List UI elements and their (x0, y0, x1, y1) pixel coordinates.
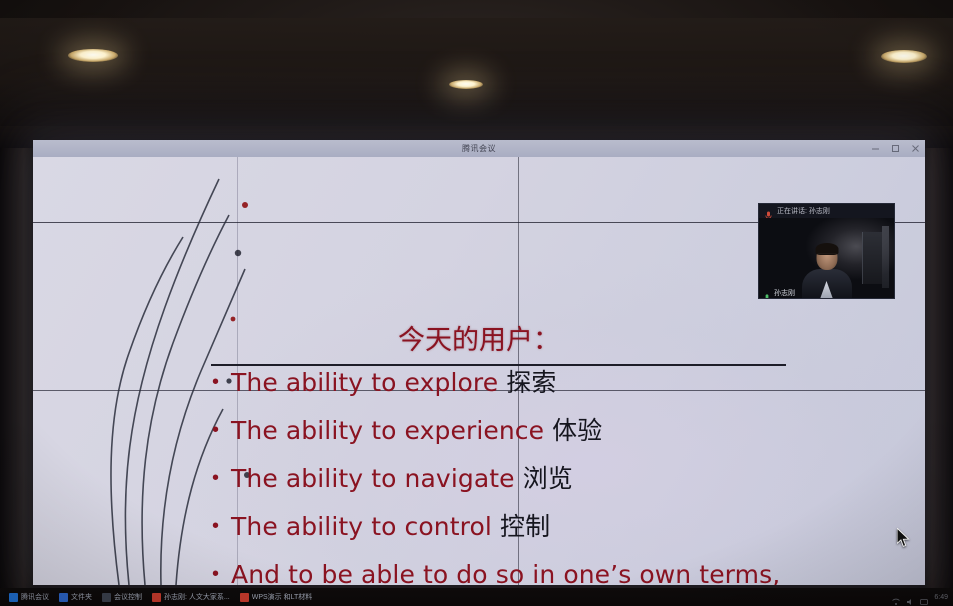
ceiling-light-center (449, 80, 483, 89)
video-header: 正在讲话: 孙志刚 (759, 204, 894, 218)
presentation-slide: 今天的用户： • The ability to explore 探索 • The… (33, 157, 925, 585)
taskbar-item-label: 会议控制 (114, 592, 142, 602)
network-icon[interactable] (892, 593, 900, 601)
minimize-icon[interactable] (870, 143, 881, 154)
meeting-control-icon (102, 593, 111, 602)
list-item: • The ability to experience 体验 (211, 415, 815, 446)
taskbar-item-wps[interactable]: WPS演示 和LT材料 (235, 588, 318, 606)
bullet-text-cn: 浏览 (523, 464, 573, 493)
bullet-text: And to be able to do so in one’s own ter… (231, 559, 815, 585)
wps-icon (240, 593, 249, 602)
video-header-label: 正在讲话: 孙志刚 (777, 206, 830, 216)
bullet-text-cn: 探索 (506, 368, 556, 397)
taskbar-item-document[interactable]: 孙志刚: 人文大家系... (147, 588, 235, 606)
bullet-text-en: The ability to control (231, 512, 500, 541)
taskbar-item-label: WPS演示 和LT材料 (252, 592, 313, 602)
video-feed: 孙志刚 (759, 218, 894, 299)
bullet-text-en: And to be able to do so in one’s own ter… (231, 560, 780, 585)
taskbar[interactable]: 腾讯会议 文件夹 会议控制 孙志刚: 人文大家系... WPS演示 和LT材料 (0, 588, 953, 606)
list-item: • The ability to navigate 浏览 (211, 463, 815, 494)
bullet-marker: • (211, 511, 220, 541)
mouse-pointer (897, 528, 911, 548)
conference-room-photo: 腾讯会议 (0, 0, 953, 606)
slide-bullet-list: • The ability to explore 探索 • The abilit… (211, 367, 815, 585)
window-titlebar[interactable]: 腾讯会议 (33, 140, 925, 157)
bullet-text-en: The ability to explore (231, 368, 506, 397)
window-controls (870, 140, 921, 157)
door (862, 232, 882, 284)
volume-icon[interactable] (906, 593, 914, 601)
bullet-text-cn: 控制 (500, 512, 550, 541)
window-title: 腾讯会议 (462, 143, 496, 154)
bullet-text: The ability to experience 体验 (231, 415, 602, 446)
bullet-text: The ability to navigate 浏览 (231, 463, 573, 494)
taskbar-item-label: 腾讯会议 (21, 592, 49, 602)
bullet-text: The ability to control 控制 (231, 511, 550, 542)
list-item: • The ability to control 控制 (211, 511, 815, 542)
microphone-icon (764, 289, 770, 297)
ceiling-light-left (68, 49, 118, 62)
bullet-marker: • (211, 463, 220, 493)
microphone-icon (765, 207, 772, 216)
taskbar-item-label: 文件夹 (71, 592, 92, 602)
wall-left (0, 148, 34, 588)
taskbar-item-folder[interactable]: 文件夹 (54, 588, 97, 606)
ime-icon[interactable] (920, 593, 928, 601)
projection-screen: 腾讯会议 (33, 140, 925, 585)
system-tray: 6:49 (892, 593, 953, 602)
video-footer: 孙志刚 (759, 287, 800, 299)
taskbar-items: 腾讯会议 文件夹 会议控制 孙志刚: 人文大家系... WPS演示 和LT材料 (0, 588, 317, 606)
taskbar-item-label: 孙志刚: 人文大家系... (164, 592, 230, 602)
bullet-text-cn: 体验 (552, 416, 602, 445)
wall-right (923, 148, 953, 588)
list-item: • And to be able to do so in one’s own t… (211, 559, 815, 585)
speaker-figure (800, 243, 854, 299)
tencent-meeting-icon (9, 593, 18, 602)
bullet-marker: • (211, 415, 220, 445)
glasses-icon (817, 253, 836, 257)
bullet-marker: • (211, 367, 220, 397)
bullet-text: The ability to explore 探索 (231, 367, 556, 398)
taskbar-clock[interactable]: 6:49 (934, 593, 948, 602)
ceiling-panel (0, 18, 953, 130)
list-item: • The ability to explore 探索 (211, 367, 815, 398)
bullet-text-en: The ability to experience (231, 416, 552, 445)
ceiling-light-right (881, 50, 927, 63)
taskbar-item-tencent-meeting[interactable]: 腾讯会议 (4, 588, 54, 606)
slide-title-rule (211, 364, 786, 366)
close-icon[interactable] (910, 143, 921, 154)
speaker-video-panel[interactable]: 正在讲话: 孙志刚 (758, 203, 895, 299)
taskbar-item-meeting-control[interactable]: 会议控制 (97, 588, 147, 606)
maximize-icon[interactable] (890, 143, 901, 154)
bullet-text-en: The ability to navigate (231, 464, 523, 493)
bullet-marker: • (211, 559, 220, 585)
slide-title: 今天的用户： (33, 327, 925, 354)
speaker-name-label: 孙志刚 (774, 288, 795, 298)
folder-icon (59, 593, 68, 602)
document-icon (152, 593, 161, 602)
door-frame (882, 226, 889, 288)
